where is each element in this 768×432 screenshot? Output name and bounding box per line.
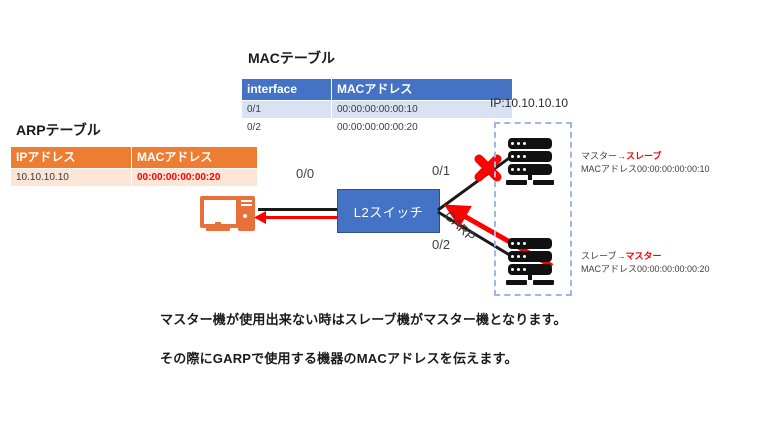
server-stem (528, 175, 532, 180)
caption-line-1: マスター機が使用出来ない時はスレーブ機がマスター機となります。 (160, 309, 567, 328)
tower-slot (241, 200, 252, 202)
diagram-canvas: MACテーブル interface MACアドレス 0/1 00:00:00:0… (0, 0, 768, 432)
mac-table-cell-mac: 00:00:00:00:00:20 (332, 119, 513, 137)
server-foot (533, 280, 554, 285)
server-note-slave-role: スレーブ→マスター (581, 250, 710, 263)
server-foot (506, 280, 527, 285)
role-from-text: マスター→ (581, 151, 626, 161)
arp-table-title: ARPテーブル (16, 120, 101, 140)
pc-tower (238, 196, 255, 231)
mac-table-cell-mac: 00:00:00:00:00:10 (332, 101, 513, 119)
arp-table-header-mac: MACアドレス (132, 147, 258, 169)
server-foot (506, 180, 527, 185)
server-led (511, 255, 514, 258)
server-led (523, 268, 526, 271)
mac-table-cell-interface: 0/1 (242, 101, 332, 119)
arp-table-header-ip: IPアドレス (11, 147, 132, 169)
server-led (523, 155, 526, 158)
cable-uplink-red (262, 216, 338, 219)
server-unit (508, 264, 552, 275)
tower-slot (241, 204, 252, 206)
server-note-slave: スレーブ→マスター MACアドレス00:00:00:00:00:20 (581, 250, 710, 276)
server-note-slave-mac: MACアドレス00:00:00:00:00:20 (581, 263, 710, 276)
l2-switch-node[interactable]: L2スイッチ (337, 189, 440, 233)
mac-table-header-mac: MACアドレス (332, 79, 513, 101)
server-note-master-mac: MACアドレス00:00:00:00:00:10 (581, 163, 710, 176)
server-unit (508, 238, 552, 249)
arp-table-cell-mac: 00:00:00:00:00:20 (132, 169, 258, 187)
server-led (517, 142, 520, 145)
server-icon-master[interactable] (504, 138, 560, 186)
role-to-text: スレーブ (626, 151, 661, 161)
arp-table-header-row: IPアドレス MACアドレス (11, 147, 258, 169)
virtual-ip-label: IP:10.10.10.10 (490, 96, 568, 110)
server-unit (508, 138, 552, 149)
server-led (523, 168, 526, 171)
arp-table: IPアドレス MACアドレス 10.10.10.10 00:00:00:00:0… (10, 146, 258, 187)
mac-table-row: 0/1 00:00:00:00:00:10 (242, 101, 513, 119)
mac-table-title: MACテーブル (248, 48, 335, 68)
mac-table-header-row: interface MACアドレス (242, 79, 513, 101)
server-unit (508, 251, 552, 262)
mac-table-cell-interface: 0/2 (242, 119, 332, 137)
server-led (511, 268, 514, 271)
server-stem (528, 275, 532, 280)
server-led (517, 268, 520, 271)
port-label-0-0: 0/0 (296, 166, 314, 181)
server-foot (533, 180, 554, 185)
server-led (517, 242, 520, 245)
server-led (511, 168, 514, 171)
mac-table: interface MACアドレス 0/1 00:00:00:00:00:10 … (241, 78, 513, 137)
server-led (511, 155, 514, 158)
server-led (517, 255, 520, 258)
l2-switch-label: L2スイッチ (354, 202, 423, 221)
server-led (523, 242, 526, 245)
cable-uplink-black (258, 208, 338, 211)
pc-icon (200, 196, 262, 244)
server-note-master-role: マスター→スレーブ (581, 150, 710, 163)
server-led (523, 255, 526, 258)
server-unit (508, 164, 552, 175)
arp-table-row: 10.10.10.10 00:00:00:00:00:20 (11, 169, 258, 187)
mac-table-header-interface: interface (242, 79, 332, 101)
role-from-text: スレーブ→ (581, 251, 625, 261)
server-led (517, 168, 520, 171)
cable-uplink-arrowhead (254, 210, 268, 226)
server-note-master: マスター→スレーブ MACアドレス00:00:00:00:00:10 (581, 150, 710, 176)
caption-line-2: その際にGARPで使用する機器のMACアドレスを伝えます。 (160, 348, 518, 367)
server-icon-slave[interactable] (504, 238, 560, 286)
role-to-text: マスター (625, 251, 661, 261)
arp-table-cell-ip: 10.10.10.10 (11, 169, 132, 187)
tower-power-dot (243, 214, 247, 218)
server-unit (508, 151, 552, 162)
server-led (523, 142, 526, 145)
server-led (511, 142, 514, 145)
mac-table-row: 0/2 00:00:00:00:00:20 (242, 119, 513, 137)
monitor-base (206, 227, 230, 231)
server-led (511, 242, 514, 245)
server-led (517, 155, 520, 158)
